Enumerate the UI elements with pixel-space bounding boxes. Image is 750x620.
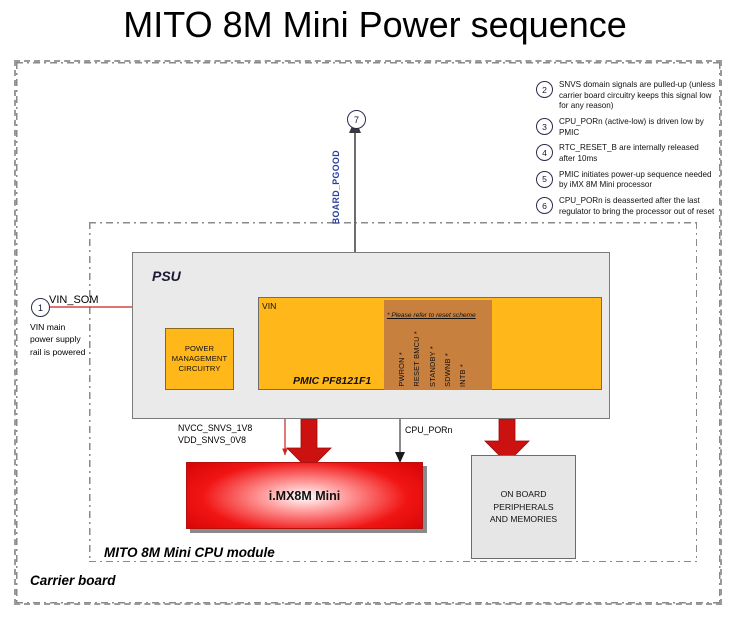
page-title: MITO 8M Mini Power sequence (0, 4, 750, 46)
carrier-board-label: Carrier board (30, 573, 116, 588)
reset-scheme-note: * Please refer to reset scheme (387, 312, 491, 319)
snvs-line-1: NVCC_SNVS_1V8 (178, 423, 252, 435)
snvs-line-2: VDD_SNVS_0V8 (178, 435, 252, 447)
legend-number-3: 3 (536, 118, 553, 135)
power-management-circuitry-label: POWER MANAGEMENT CIRCUITRY (166, 344, 233, 375)
legend-text-2: SNVS domain signals are pulled-up (unles… (559, 80, 716, 112)
legend-number-4: 4 (536, 144, 553, 161)
vin-som-note: VIN main power supply rail is powered (30, 321, 85, 358)
onboard-peripherals-block: ON BOARD PERIPHERALS AND MEMORIES (471, 455, 576, 559)
legend-number-5: 5 (536, 171, 553, 188)
snvs-rails-label: NVCC_SNVS_1V8 VDD_SNVS_0V8 (178, 423, 252, 447)
vin-som-note-line-3: rail is powered (30, 346, 85, 358)
pmic-pin-standby: STANDBY * (428, 346, 437, 387)
processor-block: i.MX8M Mini (186, 462, 423, 529)
legend-text-3: CPU_PORn (active-low) is driven low by P… (559, 117, 716, 138)
cpu-porn-label: CPU_PORn (405, 425, 452, 435)
vin-som-note-line-1: VIN main (30, 321, 85, 333)
pmic-pin-pwron: PWRON * (397, 352, 406, 387)
pmic-name-label: PMIC PF8121F1 (293, 375, 371, 387)
onboard-line-2: PERIPHERALS (490, 501, 557, 514)
legend-number-6: 6 (536, 197, 553, 214)
legend-text-4: RTC_RESET_B are internally released afte… (559, 143, 716, 164)
onboard-line-1: ON BOARD (490, 488, 557, 501)
pmic-pin-reset-bmcu: RESET BMCU * (412, 331, 421, 387)
callout-7: 7 (347, 110, 366, 129)
legend-item-4: 4 RTC_RESET_B are internally released af… (536, 143, 716, 164)
pmic-vin-pin-label: VIN (262, 301, 276, 311)
vin-som-note-line-2: power supply (30, 333, 85, 345)
onboard-line-3: AND MEMORIES (490, 513, 557, 526)
legend-item-3: 3 CPU_PORn (active-low) is driven low by… (536, 117, 716, 138)
processor-label: i.MX8M Mini (269, 489, 341, 503)
legend-text-6: CPU_PORn is deasserted after the last re… (559, 196, 716, 217)
power-management-circuitry-block: POWER MANAGEMENT CIRCUITRY (165, 328, 234, 390)
pmic-pin-intb: INTB * (458, 364, 467, 387)
diagram-canvas: MITO 8M Mini Power sequence (0, 0, 750, 620)
legend-number-2: 2 (536, 81, 553, 98)
legend-item-2: 2 SNVS domain signals are pulled-up (unl… (536, 80, 716, 112)
psu-label: PSU (152, 268, 181, 284)
cpu-module-label: MITO 8M Mini CPU module (104, 545, 275, 560)
legend: 2 SNVS domain signals are pulled-up (unl… (536, 80, 716, 222)
pmic-pin-sdwnb: SDWNB * (443, 353, 452, 387)
legend-text-5: PMIC initiates power-up sequence needed … (559, 170, 716, 191)
legend-item-6: 6 CPU_PORn is deasserted after the last … (536, 196, 716, 217)
vin-som-label: VIN_SOM (49, 294, 99, 306)
callout-1: 1 (31, 298, 50, 317)
board-pgood-label: BOARD_PGOOD (331, 150, 341, 224)
legend-item-5: 5 PMIC initiates power-up sequence neede… (536, 170, 716, 191)
